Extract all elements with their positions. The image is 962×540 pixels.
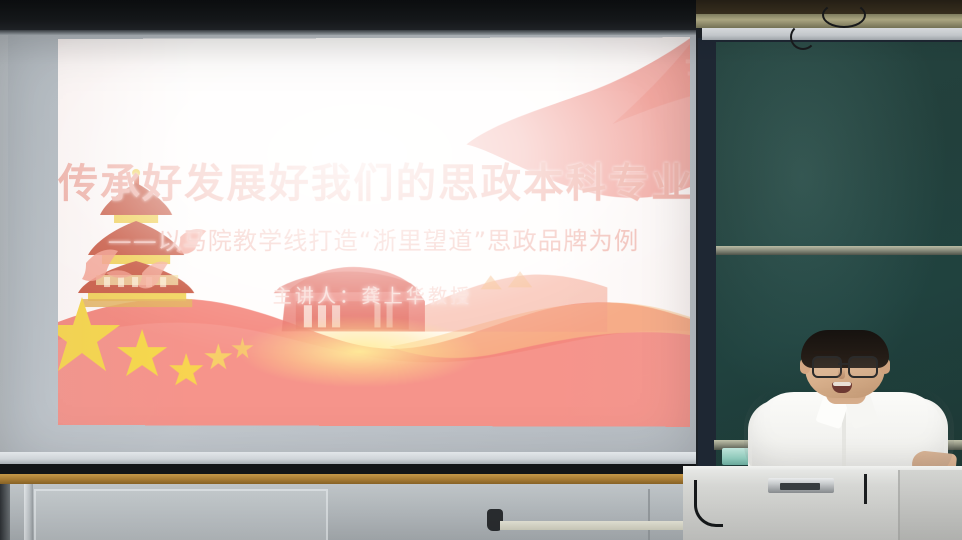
speaker-nose: [838, 368, 845, 379]
slide-presenter-line: 主讲人：龚上华教授: [58, 281, 690, 309]
eyebrow-right: [850, 351, 872, 354]
podium-seam: [898, 470, 900, 540]
podium-side-panel: [900, 470, 962, 540]
slide-subtitle: ——以马院教学线打造“浙里望道”思政品牌为例: [58, 221, 690, 256]
slide-title-block: 传承好发展好我们的思政本科专业 ——以马院教学线打造“浙里望道”思政品牌为例: [58, 150, 690, 256]
speaker-teeth: [833, 382, 851, 386]
eyeglasses-bridge: [838, 363, 848, 365]
wall-seam: [648, 489, 650, 540]
wall-panel-frame: [34, 489, 328, 540]
wood-trim: [0, 474, 700, 484]
hanging-cable-loop: [822, 2, 866, 28]
presentation-slide: 传承好发展好我们的思政本科专业 ——以马院教学线打造“浙里望道”思政品牌为例 主…: [58, 37, 690, 427]
podium-cable-right: [864, 474, 867, 504]
wall-pipe: [24, 484, 33, 540]
hanging-cable-loop-small: [790, 24, 816, 50]
slide-title: 传承好发展好我们的思政本科专业: [58, 150, 690, 209]
eyebrow-left: [813, 351, 835, 354]
eyeglasses-right-lens: [848, 356, 878, 378]
screen-roller-case: [0, 0, 700, 33]
wall-rail: [500, 521, 700, 530]
projection-screen: 传承好发展好我们的思政本科专业 ——以马院教学线打造“浙里望道”思政品牌为例 主…: [58, 37, 690, 427]
wall-dark-edge: [0, 484, 10, 540]
screen-roller-edge: [0, 30, 700, 35]
blackboard-ledge-upper: [716, 246, 962, 255]
lecture-hall-scene: 传承好发展好我们的思政本科专业 ——以马院教学线打造“浙里望道”思政品牌为例 主…: [0, 0, 962, 540]
ceiling-rail-white: [702, 28, 962, 40]
laptop-keyboard: [780, 483, 820, 490]
